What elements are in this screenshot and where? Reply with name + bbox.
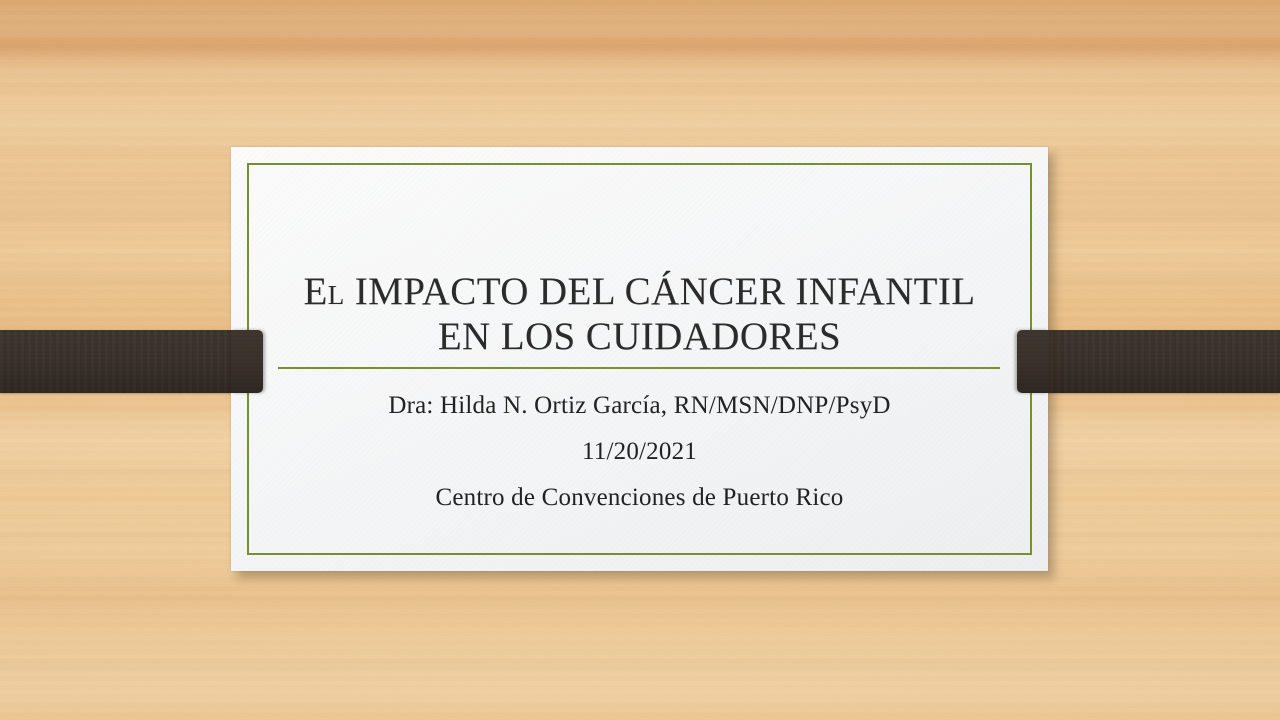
subtitle-author: Dra: Hilda N. Ortiz García, RN/MSN/DNP/P… bbox=[271, 383, 1008, 429]
title-card: El IMPACTO DEL CÁNCER INFANTIL EN LOS CU… bbox=[231, 147, 1048, 571]
subtitle-block: Dra: Hilda N. Ortiz García, RN/MSN/DNP/P… bbox=[271, 383, 1008, 521]
subtitle-date: 11/20/2021 bbox=[271, 429, 1008, 475]
card-content: El IMPACTO DEL CÁNCER INFANTIL EN LOS CU… bbox=[231, 147, 1048, 571]
subtitle-venue: Centro de Convenciones de Puerto Rico bbox=[271, 475, 1008, 521]
page-title: El IMPACTO DEL CÁNCER INFANTIL EN LOS CU… bbox=[278, 269, 1001, 359]
dark-band-cap-left bbox=[231, 330, 263, 393]
title-text: El IMPACTO DEL CÁNCER INFANTIL EN LOS CU… bbox=[303, 270, 975, 358]
dark-band-cap-right bbox=[1017, 330, 1049, 393]
title-underline-rule bbox=[278, 367, 1000, 369]
presentation-title-slide: El IMPACTO DEL CÁNCER INFANTIL EN LOS CU… bbox=[0, 0, 1280, 720]
